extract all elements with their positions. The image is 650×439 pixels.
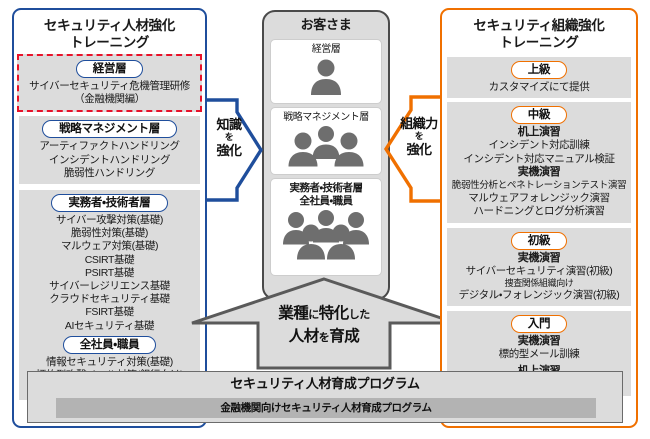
arrow-org-strength-label: 組織力 を 強化 — [396, 116, 442, 157]
arrow-knowledge-particle: を — [205, 132, 253, 143]
arrow-org-line2: 強化 — [396, 142, 442, 157]
left-item: 情報セキュリティ対策(基礎) — [21, 356, 198, 369]
right-item-subnote: 捜査関係組織向け — [449, 278, 629, 289]
program-bar-inner: 金融機関向けセキュリティ人材育成プログラム — [56, 398, 596, 418]
right-group-heading: 実機演習 — [449, 252, 629, 265]
center-tier-executive-label: 経営層 — [271, 43, 381, 56]
right-item: サイバーセキュリティ演習(初級) — [449, 265, 629, 278]
right-section-beginner-pill: 初級 — [511, 232, 567, 250]
right-item: デジタル・フォレンジック演習(初級) — [449, 289, 629, 302]
right-group-heading: 実機演習 — [449, 335, 629, 348]
right-item: ハードニングとログ分析演習 — [449, 205, 629, 218]
right-panel-title-line2: トレーニング — [442, 34, 636, 51]
right-section-intermediate[interactable]: 中級 机上演習 インシデント対応訓練 インシデント対応マニュアル検証 実機演習 … — [447, 102, 631, 222]
left-section-strategic-management[interactable]: 戦略マネジメント層 アーティファクトハンドリング インシデントハンドリング 脆弱… — [19, 116, 200, 184]
left-section-strategic-management-pill: 戦略マネジメント層 — [42, 120, 177, 138]
bottom-arrow-line1-main: 業種 — [278, 305, 308, 322]
right-group-heading: 実機演習 — [449, 166, 629, 179]
right-section-introductory-pill: 入門 — [511, 315, 567, 333]
bottom-arrow-label: 業種に特化した 人材を育成 — [188, 303, 460, 349]
right-section-advanced[interactable]: 上級 カスタマイズにて提供 — [447, 57, 631, 98]
left-item: サイバーレジリエンス基礎 — [21, 280, 198, 293]
left-item: FSIRT基礎 — [21, 306, 198, 319]
bottom-arrow-line1-p1: に — [308, 309, 319, 321]
bottom-arrow-line1: 業種に特化した — [188, 303, 460, 326]
center-tier-executive: 経営層 — [270, 39, 382, 104]
center-tier-practitioner-allstaff: 実務者・技術者層 全社員・職員 — [270, 178, 382, 276]
left-panel-title: セキュリティ人材強化 トレーニング — [14, 10, 205, 51]
left-panel-security-talent-training: セキュリティ人材強化 トレーニング 経営層 サイバーセキュリティ危機管理研修 （… — [12, 8, 207, 428]
right-item: 脆弱性分析とペネトレーションテスト演習 — [449, 179, 629, 192]
arrow-knowledge-line1: 知識 — [205, 117, 253, 132]
right-section-intermediate-pill: 中級 — [511, 106, 567, 124]
bottom-arrow-line1-main2: 特化 — [319, 305, 349, 322]
left-item: （金融機関編） — [21, 93, 198, 106]
right-item: インシデント対応マニュアル検証 — [449, 153, 629, 166]
right-panel-title-line1: セキュリティ組織強化 — [442, 17, 636, 34]
left-item: マルウェア対策(基礎) — [21, 240, 198, 253]
arrow-org-line1: 組織力 — [396, 116, 442, 131]
people-icon-group-five — [274, 209, 378, 261]
diagram-root: セキュリティ人材強化 トレーニング 経営層 サイバーセキュリティ危機管理研修 （… — [0, 0, 650, 439]
arrow-org-particle: を — [396, 131, 442, 142]
right-section-beginner[interactable]: 初級 実機演習 サイバーセキュリティ演習(初級) 捜査関係組織向け デジタル・フ… — [447, 228, 631, 307]
right-group-heading: 机上演習 — [449, 126, 629, 139]
center-customer-card: お客さま 経営層 戦略マネジメント層 実務者・技術者層 全社員・職員 — [262, 10, 390, 300]
center-tier-practitioner-label-line1: 実務者・技術者層 — [271, 182, 381, 195]
left-item: 脆弱性ハンドリング — [21, 167, 198, 180]
bottom-arrow-line2: 人材を育成 — [188, 326, 460, 349]
arrow-knowledge-line2: 強化 — [205, 143, 253, 158]
program-bar-subtitle: 金融機関向けセキュリティ人材育成プログラム — [220, 402, 431, 414]
bottom-arrow-line2-p: を — [319, 332, 330, 344]
right-panel-security-org-training: セキュリティ組織強化 トレーニング 上級 カスタマイズにて提供 中級 机上演習 … — [440, 8, 638, 428]
left-section-allstaff-pill: 全社員・職員 — [63, 336, 157, 354]
right-item: 標的型メール訓練 — [449, 348, 629, 361]
person-icon-single — [304, 57, 348, 97]
left-panel-title-line1: セキュリティ人材強化 — [14, 17, 205, 34]
program-bar-title: セキュリティ人材育成プログラム — [28, 372, 622, 392]
right-item: カスタマイズにて提供 — [449, 81, 629, 94]
left-item: クラウドセキュリティ基礎 — [21, 293, 198, 306]
left-section-practitioner-and-allstaff[interactable]: 実務者・技術者層 サイバー攻撃対策(基礎) 脆弱性対策(基礎) マルウェア対策(… — [19, 190, 200, 400]
left-panel-title-line2: トレーニング — [14, 34, 205, 51]
left-section-executive[interactable]: 経営層 サイバーセキュリティ危機管理研修 （金融機関編） — [17, 54, 202, 112]
program-bar: セキュリティ人材育成プログラム 金融機関向けセキュリティ人材育成プログラム — [27, 371, 623, 423]
people-icon-group-three — [283, 125, 369, 167]
center-tier-strategic-management: 戦略マネジメント層 — [270, 107, 382, 175]
left-item: サイバー攻撃対策(基礎) — [21, 214, 198, 227]
left-item: アーティファクトハンドリング — [21, 140, 198, 153]
bottom-arrow-line2-main2: 育成 — [329, 328, 359, 345]
center-tier-strategic-label: 戦略マネジメント層 — [271, 111, 381, 124]
left-section-executive-pill: 経営層 — [76, 60, 144, 78]
center-card-header: お客さま — [264, 12, 388, 36]
right-panel-title: セキュリティ組織強化 トレーニング — [442, 10, 636, 51]
left-section-practitioner-pill: 実務者・技術者層 — [51, 194, 167, 212]
left-item: サイバーセキュリティ危機管理研修 — [21, 80, 198, 93]
center-tier-practitioner-label-line2: 全社員・職員 — [271, 195, 381, 208]
bottom-arrow-line1-p2: した — [349, 309, 370, 321]
left-item: 脆弱性対策(基礎) — [21, 227, 198, 240]
right-item: マルウェアフォレンジック演習 — [449, 192, 629, 205]
left-item: インシデントハンドリング — [21, 154, 198, 167]
arrow-knowledge-label: 知識 を 強化 — [205, 117, 253, 158]
left-item: PSIRT基礎 — [21, 267, 198, 280]
left-item: CSIRT基礎 — [21, 254, 198, 267]
right-section-advanced-pill: 上級 — [511, 61, 567, 79]
bottom-arrow-line2-main: 人材 — [289, 328, 319, 345]
right-item: インシデント対応訓練 — [449, 139, 629, 152]
left-item: AIセキュリティ基礎 — [21, 320, 198, 333]
